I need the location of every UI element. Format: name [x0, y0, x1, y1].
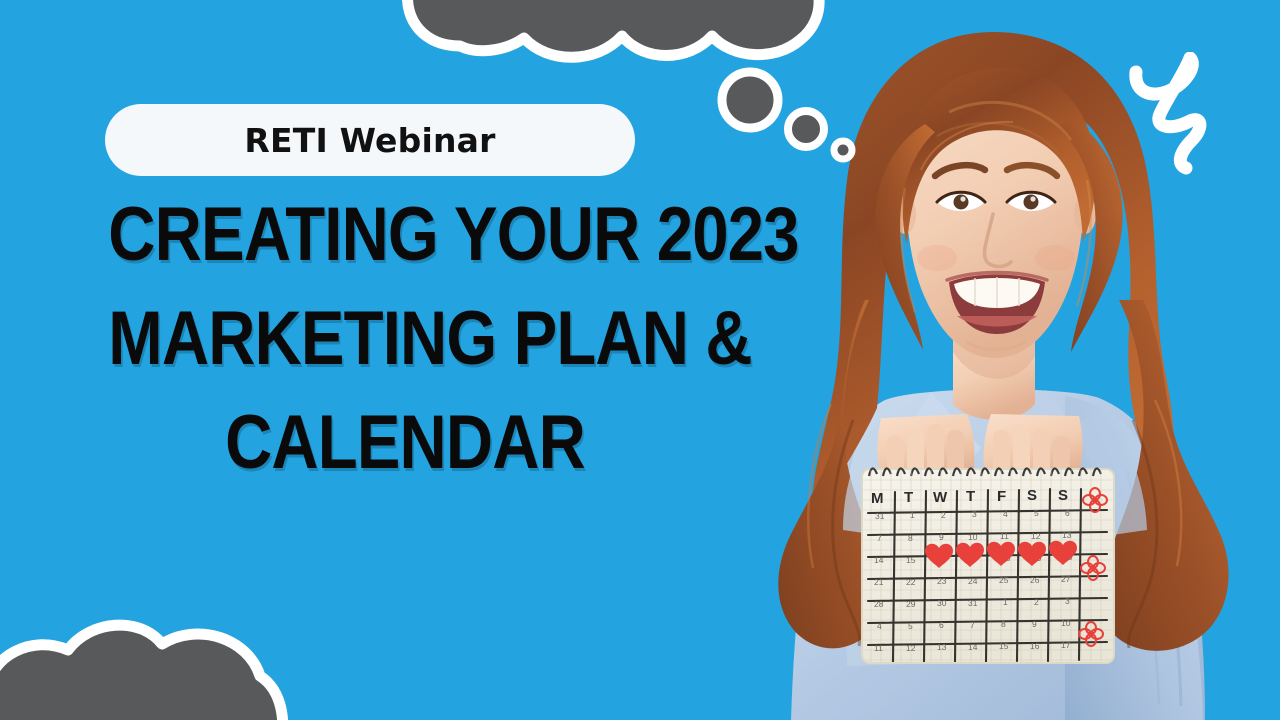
svg-text:12: 12 [906, 643, 916, 653]
svg-text:2: 2 [941, 510, 946, 520]
svg-text:21: 21 [874, 577, 884, 587]
svg-text:7: 7 [877, 533, 882, 543]
webinar-badge-label: RETI Webinar [244, 121, 495, 160]
svg-text:17: 17 [1061, 640, 1071, 650]
svg-text:16: 16 [937, 554, 947, 564]
svg-text:5: 5 [908, 621, 913, 631]
svg-text:25: 25 [999, 575, 1009, 585]
neck [953, 334, 1035, 420]
svg-text:4: 4 [877, 621, 882, 631]
svg-text:13: 13 [937, 642, 947, 652]
spiral-binding [869, 468, 1101, 476]
svg-text:1: 1 [910, 510, 915, 520]
svg-text:6: 6 [1065, 508, 1070, 518]
svg-text:20: 20 [1063, 552, 1073, 562]
svg-text:W: W [933, 489, 948, 506]
svg-text:T: T [904, 489, 913, 506]
hands [878, 414, 1083, 487]
calendar-heart-marks [925, 541, 1077, 568]
svg-text:23: 23 [937, 576, 947, 586]
svg-text:22: 22 [906, 577, 916, 587]
svg-text:T: T [966, 488, 975, 505]
svg-text:1: 1 [1003, 597, 1008, 607]
svg-text:31: 31 [968, 598, 978, 608]
svg-text:10: 10 [1061, 618, 1071, 628]
shirt [791, 389, 1205, 720]
headline-line-1: CREATING YOUR 2023 [108, 183, 701, 287]
svg-text:24: 24 [968, 576, 978, 586]
svg-text:29: 29 [906, 599, 916, 609]
svg-text:F: F [997, 488, 1006, 505]
svg-text:28: 28 [874, 599, 884, 609]
left-fingers [887, 424, 964, 487]
svg-text:8: 8 [1001, 619, 1006, 629]
svg-text:17: 17 [968, 554, 978, 564]
svg-text:19: 19 [1032, 553, 1042, 563]
cloud [0, 612, 290, 720]
svg-text:M: M [871, 490, 884, 507]
calendar: M T W T F S S 311 23 45 6 78 910 1112 13… [861, 468, 1115, 664]
svg-text:30: 30 [937, 598, 947, 608]
svg-text:27: 27 [1061, 574, 1071, 584]
thought-bubble-dots [700, 50, 870, 180]
svg-text:14: 14 [968, 642, 978, 652]
svg-text:11: 11 [874, 643, 883, 653]
face [894, 74, 1096, 358]
hair-back [778, 32, 1228, 651]
svg-text:8: 8 [908, 533, 913, 543]
thought-bubble-cloud [400, 0, 880, 80]
svg-text:7: 7 [970, 620, 975, 630]
svg-text:9: 9 [1032, 619, 1037, 629]
banner-canvas: M T W T F S S 311 23 45 6 78 910 1112 13… [0, 0, 1280, 720]
svg-text:9: 9 [939, 532, 944, 542]
svg-text:3: 3 [972, 509, 977, 519]
svg-text:18: 18 [1001, 553, 1011, 563]
svg-text:16: 16 [1030, 641, 1040, 651]
svg-text:11: 11 [1000, 531, 1009, 541]
svg-text:3: 3 [1065, 596, 1070, 606]
hair-front [875, 68, 1122, 352]
headline-line-3: CALENDAR [108, 391, 701, 495]
arms [843, 412, 1147, 536]
svg-text:14: 14 [874, 555, 884, 565]
presenter-photo: M T W T F S S 311 23 45 6 78 910 1112 13… [735, 0, 1255, 720]
webinar-badge: RETI Webinar [105, 104, 635, 176]
calendar-dates: 311 23 45 6 78 910 1112 13 1415 1617 181… [874, 508, 1073, 653]
calendar-flower-doodles [1079, 488, 1107, 646]
right-fingers [993, 424, 1070, 487]
calendar-day-headers: M T W T F S S [871, 487, 1068, 507]
svg-text:S: S [1027, 487, 1037, 504]
svg-text:10: 10 [968, 532, 978, 542]
svg-text:4: 4 [1003, 509, 1008, 519]
svg-text:26: 26 [1030, 575, 1040, 585]
headline-line-2: MARKETING PLAN & [108, 287, 701, 391]
svg-text:12: 12 [1031, 531, 1041, 541]
svg-text:13: 13 [1062, 530, 1072, 540]
svg-text:15: 15 [906, 555, 916, 565]
svg-text:5: 5 [1034, 508, 1039, 518]
svg-text:2: 2 [1034, 597, 1039, 607]
svg-text:15: 15 [999, 641, 1009, 651]
svg-text:S: S [1058, 487, 1068, 504]
svg-text:6: 6 [939, 620, 944, 630]
squiggle-doodle [1118, 52, 1248, 177]
page-title: CREATING YOUR 2023 MARKETING PLAN & CALE… [60, 183, 750, 495]
svg-text:31: 31 [875, 511, 885, 521]
